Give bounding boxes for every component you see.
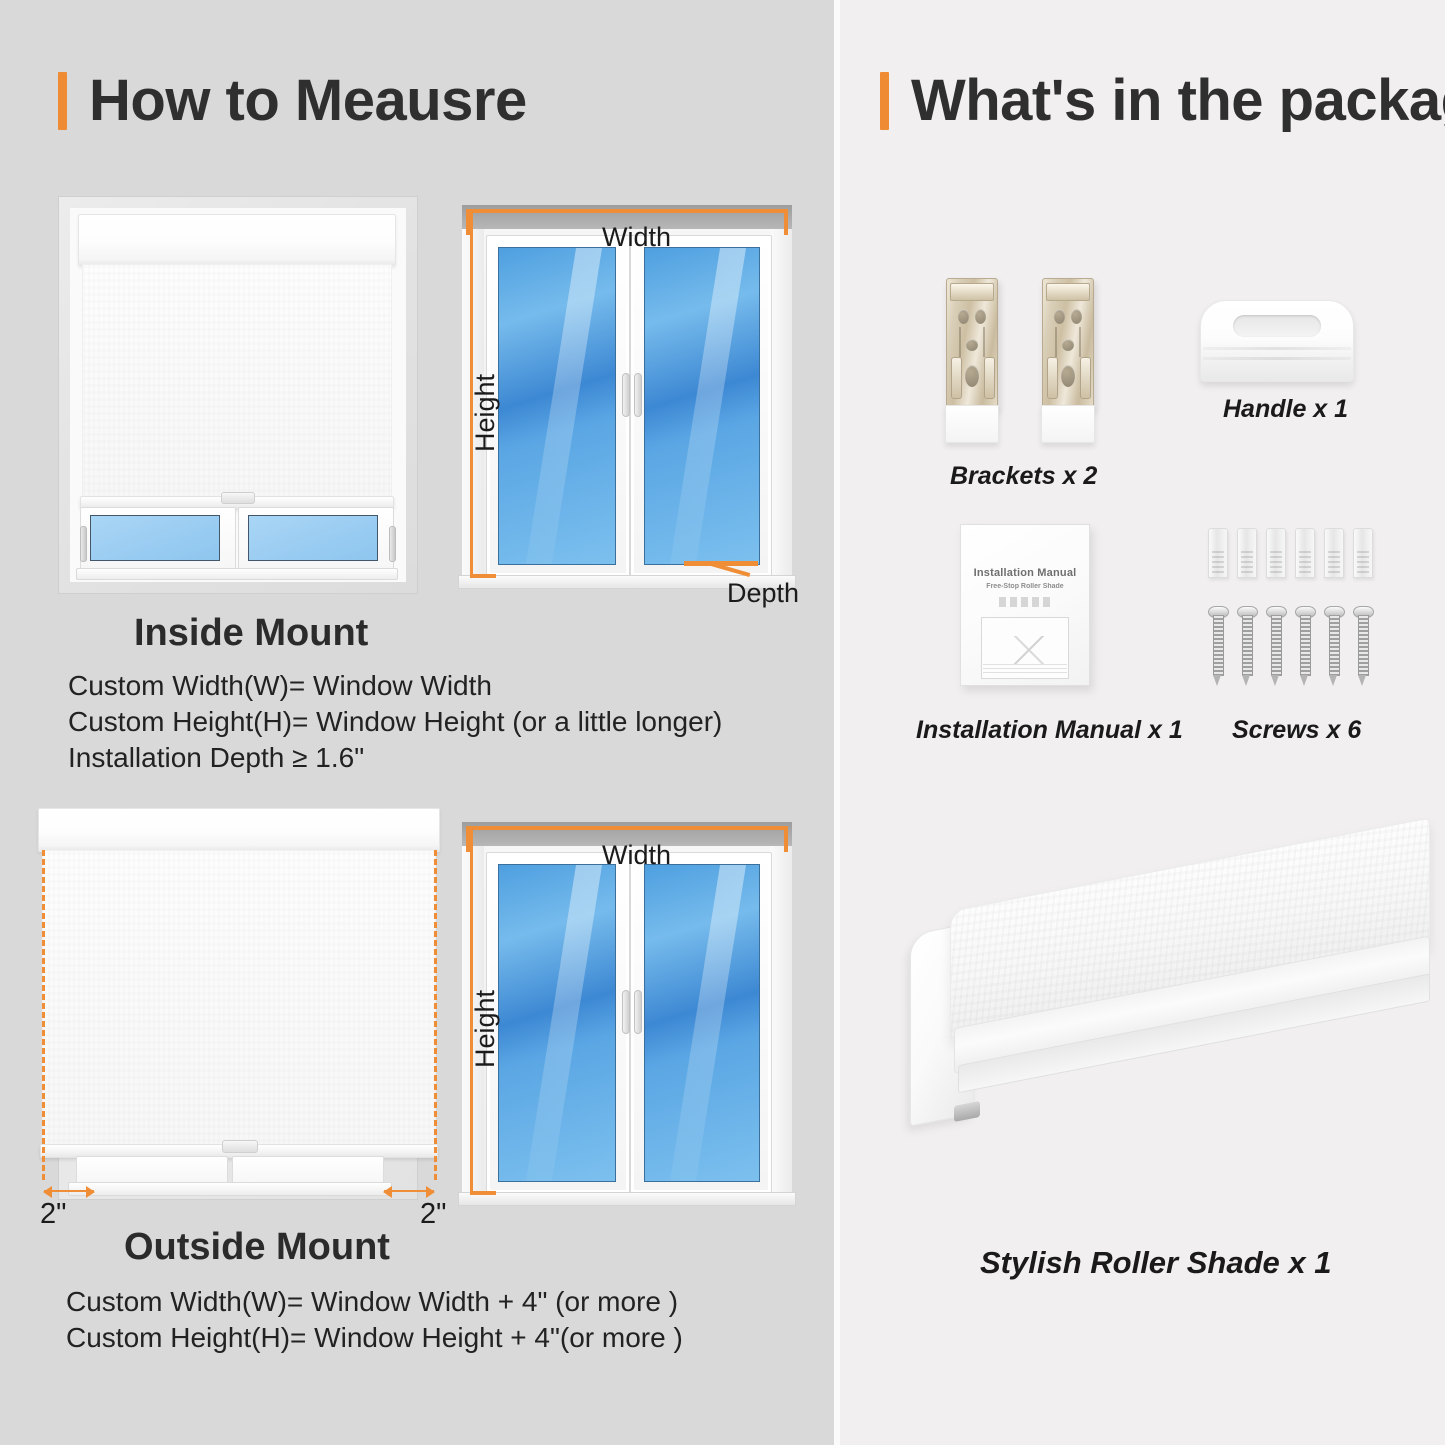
screw-shaft-4	[1300, 615, 1311, 676]
inside-mount-title: Inside Mount	[134, 612, 368, 655]
arrow-head-left-icon	[43, 1186, 52, 1198]
package-heading: What's in the package	[880, 72, 1445, 130]
inside-width-label: Width	[602, 222, 671, 253]
screw-shaft-2	[1242, 615, 1253, 676]
inside-mount-text: Custom Width(W)= Window Width Custom Hei…	[68, 668, 722, 775]
how-to-measure-title: How to Meausre	[89, 72, 527, 130]
bracket-slot-right-2	[1080, 357, 1091, 399]
outside-width-label: Width	[602, 840, 671, 871]
screw-shaft-1	[1213, 615, 1224, 676]
inside-line-1: Custom Width(W)= Window Width	[68, 668, 722, 704]
outside-height-label: Height	[470, 990, 501, 1068]
measured-handle-right-icon-2	[634, 990, 642, 1034]
screw-shaft-5	[1329, 615, 1340, 676]
installation-manual-icon: Installation Manual Free-Stop Roller Sha…	[960, 524, 1090, 686]
inside-height-label: Height	[470, 374, 501, 452]
glass-glint-right-2	[670, 865, 746, 1181]
bracket-hole-a	[958, 309, 969, 324]
manual-cover-subtitle: Free-Stop Roller Shade	[971, 583, 1079, 590]
measured-pane-right	[644, 247, 760, 565]
wall-anchor-4-icon	[1295, 528, 1315, 578]
measured-pane-left-2	[498, 864, 616, 1182]
screw-3-icon	[1267, 606, 1284, 686]
bracket-emboss-4	[1079, 327, 1081, 357]
bracket-emboss-3	[1055, 327, 1057, 357]
package-contents-panel: What's in the package	[840, 0, 1445, 1445]
manual-cover-scribble	[999, 597, 1053, 607]
handle-icon	[1200, 300, 1354, 382]
measured-pane-left	[498, 247, 616, 565]
bracket-slot-right	[984, 357, 995, 399]
overhang-arrow-left	[44, 1190, 94, 1192]
outside-mount-text: Custom Width(W)= Window Width + 4" (or m…	[66, 1284, 683, 1356]
height-measure-cap-bottom-2	[470, 1191, 496, 1195]
roller-metal-clip	[954, 1101, 980, 1122]
arrow-head-right-icon-2	[426, 1186, 435, 1198]
outside-shade-fabric	[42, 850, 436, 1150]
overhang-guide-right	[434, 850, 437, 1180]
wall-anchor-1-icon	[1208, 528, 1228, 578]
inside-valance	[78, 214, 396, 266]
bracket-hole-b	[975, 309, 986, 324]
window-jamb-right-2	[770, 846, 792, 1200]
bracket-slot-left-2	[1047, 357, 1058, 399]
screw-tip-6	[1358, 675, 1366, 686]
sash-handle-left-icon	[80, 526, 87, 562]
inside-mount-measured-window	[462, 205, 792, 583]
outside-right-overhang-label: 2"	[420, 1198, 446, 1231]
roller-shade-label: Stylish Roller Shade x 1	[980, 1245, 1331, 1281]
screw-tip-1	[1213, 675, 1221, 686]
manual-cover-footer	[983, 663, 1067, 673]
arrow-head-right-icon	[86, 1186, 95, 1198]
screw-4-icon	[1296, 606, 1313, 686]
measured-handle-left-icon-2	[622, 990, 630, 1034]
accent-bar-icon	[58, 72, 67, 130]
measured-handle-left-icon	[622, 373, 630, 417]
measured-window-sill-2	[458, 1192, 796, 1206]
screw-6-icon	[1354, 606, 1371, 686]
bracket-2-icon	[1042, 278, 1094, 410]
height-measure-cap-bottom	[470, 574, 496, 578]
package-title: What's in the package	[911, 72, 1445, 130]
screw-tip-4	[1300, 675, 1308, 686]
inside-rail-grip	[221, 492, 255, 504]
window-sill	[76, 568, 398, 580]
handle-label: Handle x 1	[1223, 395, 1348, 424]
screw-shaft-6	[1358, 615, 1369, 676]
roller-shade-icon	[910, 807, 1430, 1208]
bracket-foot-2	[1041, 405, 1095, 443]
outside-valance	[38, 808, 440, 852]
width-measure-line	[466, 209, 788, 213]
roller-shade-item	[910, 858, 1430, 1158]
wall-anchor-3-icon	[1266, 528, 1286, 578]
outside-left-overhang-label: 2"	[40, 1198, 66, 1231]
screw-1-icon	[1209, 606, 1226, 686]
window-jamb-right	[770, 229, 792, 583]
outside-line-1: Custom Width(W)= Window Width + 4" (or m…	[66, 1284, 683, 1320]
glass-glint-left	[526, 248, 602, 564]
screw-shaft-3	[1271, 615, 1282, 676]
glass-glint-right	[670, 248, 746, 564]
width-measure-cap-right-2	[784, 826, 788, 852]
brackets-item	[938, 278, 1138, 458]
overhang-guide-left	[42, 850, 45, 1180]
width-measure-line-2	[466, 826, 788, 830]
handle-ridge-1	[1203, 347, 1351, 350]
outside-rail-grip	[222, 1140, 258, 1153]
inside-line-2: Custom Height(H)= Window Height (or a li…	[68, 704, 722, 740]
arrow-head-left-icon-2	[383, 1186, 392, 1198]
bracket-top-flange-2	[1046, 283, 1090, 301]
screws-item	[1208, 528, 1388, 698]
glass-glint-left-2	[526, 865, 602, 1181]
bracket-hole-c2	[1062, 339, 1074, 351]
wall-anchor-5-icon	[1324, 528, 1344, 578]
brackets-label: Brackets x 2	[950, 462, 1097, 491]
outside-mount-measured-window	[462, 822, 792, 1200]
bracket-top-flange	[950, 283, 994, 301]
outside-mount-shade-illustration	[36, 808, 440, 1200]
wall-anchor-6-icon	[1353, 528, 1373, 578]
how-to-measure-heading: How to Meausre	[58, 72, 527, 130]
bracket-emboss-2	[983, 327, 985, 357]
handle-grip-slot	[1233, 315, 1321, 337]
infographic-page: How to Meausre	[0, 0, 1445, 1445]
bracket-hole-d2	[1061, 365, 1075, 387]
overhang-arrow-right	[384, 1190, 434, 1192]
accent-bar-icon-2	[880, 72, 889, 130]
screw-tip-3	[1271, 675, 1279, 686]
bracket-1-icon	[946, 278, 998, 410]
sash-handle-right-icon	[389, 526, 396, 562]
installation-manual-item: Installation Manual Free-Stop Roller Sha…	[960, 524, 1100, 694]
window-pane-left	[90, 515, 220, 561]
bracket-hole-c	[966, 339, 978, 351]
bracket-slot-left	[951, 357, 962, 399]
measured-pane-right-2	[644, 864, 760, 1182]
inside-depth-label: Depth	[727, 578, 799, 609]
inside-mount-shade-illustration	[58, 196, 418, 594]
bracket-hole-b2	[1071, 309, 1082, 324]
bracket-foot	[945, 405, 999, 443]
installation-manual-label: Installation Manual x 1	[916, 716, 1183, 745]
measured-handle-right-icon	[634, 373, 642, 417]
wall-anchor-2-icon	[1237, 528, 1257, 578]
inside-line-3: Installation Depth ≥ 1.6"	[68, 740, 722, 776]
how-to-measure-panel: How to Meausre	[0, 0, 834, 1445]
bracket-hole-d	[965, 365, 979, 387]
outside-window-sill	[68, 1182, 392, 1196]
manual-cover-title: Installation Manual	[971, 567, 1079, 579]
outside-mount-title: Outside Mount	[124, 1226, 390, 1269]
window-pane-right	[248, 515, 378, 561]
screw-tip-5	[1329, 675, 1337, 686]
bracket-hole-a2	[1054, 309, 1065, 324]
screw-2-icon	[1238, 606, 1255, 686]
handle-item	[1200, 300, 1370, 390]
inside-shade-fabric	[82, 264, 392, 500]
bracket-emboss-1	[959, 327, 961, 357]
handle-ridge-2	[1203, 357, 1351, 360]
outside-line-2: Custom Height(H)= Window Height + 4"(or …	[66, 1320, 683, 1356]
screw-tip-2	[1242, 675, 1250, 686]
screws-label: Screws x 6	[1232, 716, 1361, 745]
width-measure-cap-right	[784, 209, 788, 235]
screw-5-icon	[1325, 606, 1342, 686]
